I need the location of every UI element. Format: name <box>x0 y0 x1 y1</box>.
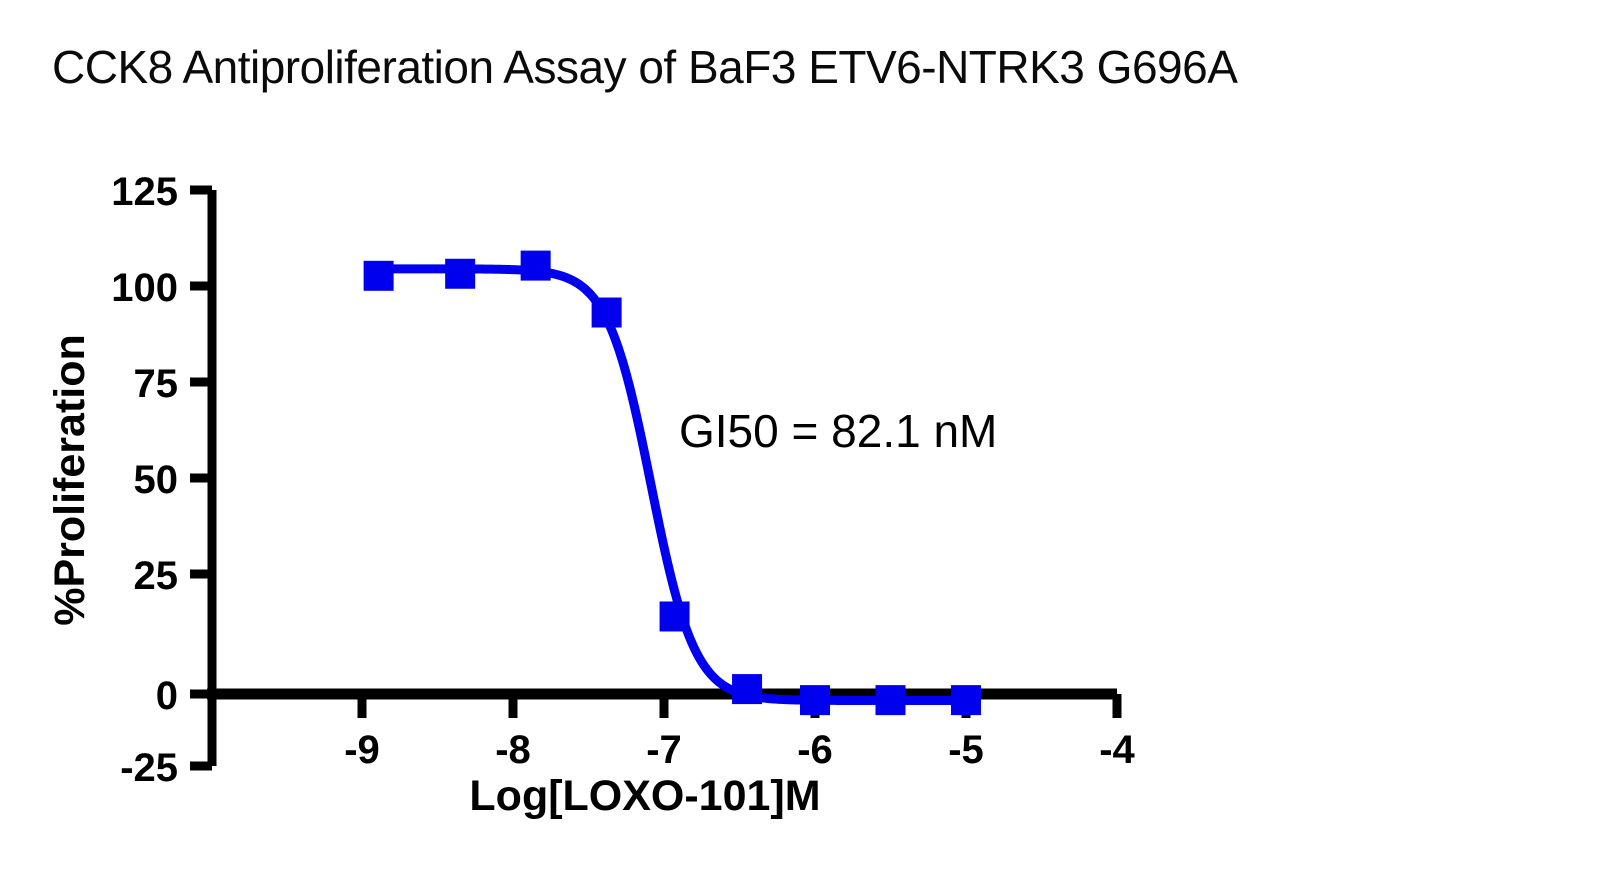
y-tick-label-125: 125 <box>111 170 178 214</box>
x-axis-title: Log[LOXO-101]M <box>469 772 820 820</box>
y-tick-label-100: 100 <box>111 266 178 310</box>
x-tick-label-minus7: -7 <box>646 728 682 772</box>
data-point-marker <box>660 601 690 631</box>
gi50-annotation: GI50 = 82.1 nM <box>679 405 997 457</box>
x-tick-label-minus8: -8 <box>495 728 531 772</box>
y-tick-label-50: 50 <box>134 458 179 502</box>
x-tick-label-minus6: -6 <box>797 728 833 772</box>
y-axis-title: %Proliferation <box>46 334 94 626</box>
data-point-marker <box>951 685 981 715</box>
data-point-marker <box>732 674 762 704</box>
chart-figure: CCK8 Antiproliferation Assay of BaF3 ETV… <box>0 0 1614 879</box>
data-point-marker <box>521 251 551 281</box>
data-point-marker <box>445 259 475 289</box>
dose-response-curve <box>379 269 966 701</box>
x-tick-label-minus9: -9 <box>344 728 380 772</box>
data-point-marker <box>592 298 622 328</box>
x-tick-label-minus4: -4 <box>1099 728 1135 772</box>
y-tick-label-0: 0 <box>156 674 178 718</box>
plot-area: 125 100 75 50 25 0 -25 -9 -8 -7 -6 -5 -4… <box>0 0 1614 879</box>
y-tick-label-75: 75 <box>134 362 179 406</box>
data-point-marker <box>800 685 830 715</box>
data-point-marker <box>876 685 906 715</box>
x-tick-label-minus5: -5 <box>948 728 984 772</box>
data-point-marker <box>364 261 394 291</box>
data-point-markers <box>364 251 981 716</box>
y-tick-label-minus25: -25 <box>120 746 178 790</box>
plot-svg: 125 100 75 50 25 0 -25 -9 -8 -7 -6 -5 -4… <box>0 0 1614 879</box>
y-tick-label-25: 25 <box>134 554 179 598</box>
